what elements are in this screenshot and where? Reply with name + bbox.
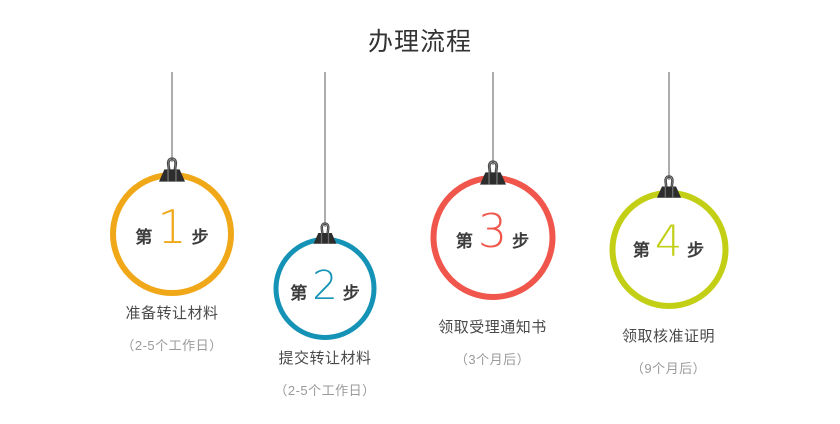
step-card-4[interactable]: 第 4 步 领取核准证明 （9个月后） — [609, 72, 728, 372]
step-card-1[interactable]: 第 1 步 准备转让材料 （2-5个工作日） — [110, 72, 234, 352]
step-number-2: 第 2 步 — [290, 268, 359, 304]
step-card-3[interactable]: 第 3 步 领取受理通知书 （3个月后） — [430, 72, 555, 362]
step-prefix: 第 — [633, 236, 650, 261]
step-caption-1: 准备转让材料 （2-5个工作日） — [121, 302, 222, 354]
page-title: 办理流程 — [0, 22, 840, 58]
hanging-string-icon — [668, 72, 669, 180]
binder-clip-icon — [653, 174, 685, 200]
step-suffix: 步 — [343, 279, 360, 304]
step-sublabel: （9个月后） — [622, 358, 715, 377]
step-digit: 2 — [312, 268, 337, 304]
step-number-3: 第 3 步 — [456, 211, 529, 252]
step-sublabel: （2-5个工作日） — [121, 335, 222, 354]
step-caption-4: 领取核准证明 （9个月后） — [622, 325, 715, 377]
step-number-4: 第 4 步 — [633, 223, 704, 262]
step-suffix: 步 — [192, 223, 209, 248]
hanging-string-icon — [492, 72, 493, 165]
step-suffix: 步 — [512, 227, 529, 252]
step-label: 领取受理通知书 — [438, 316, 547, 337]
step-caption-2: 提交转让材料 （2-5个工作日） — [274, 347, 375, 399]
binder-clip-icon — [310, 221, 340, 246]
binder-clip-icon — [476, 159, 510, 187]
hanging-string-icon — [172, 72, 173, 162]
step-prefix: 第 — [290, 279, 307, 304]
step-digit: 1 — [157, 207, 186, 248]
step-label: 准备转让材料 — [121, 302, 222, 323]
step-card-2[interactable]: 第 2 步 提交转让材料 （2-5个工作日） — [273, 72, 377, 392]
step-suffix: 步 — [687, 236, 704, 261]
flowchart-canvas: 办理流程 第 1 步 准备转让材料 （2-5个工作日） — [0, 0, 840, 424]
step-digit: 4 — [655, 223, 682, 262]
binder-clip-icon — [155, 156, 189, 184]
step-label: 领取核准证明 — [622, 325, 715, 346]
step-label: 提交转让材料 — [274, 347, 375, 368]
step-prefix: 第 — [135, 223, 152, 248]
step-caption-3: 领取受理通知书 （3个月后） — [438, 316, 547, 368]
step-sublabel: （2-5个工作日） — [274, 380, 375, 399]
step-number-1: 第 1 步 — [135, 207, 208, 248]
step-digit: 3 — [478, 211, 507, 252]
step-prefix: 第 — [456, 227, 473, 252]
hanging-string-icon — [325, 72, 326, 227]
step-sublabel: （3个月后） — [438, 349, 547, 368]
